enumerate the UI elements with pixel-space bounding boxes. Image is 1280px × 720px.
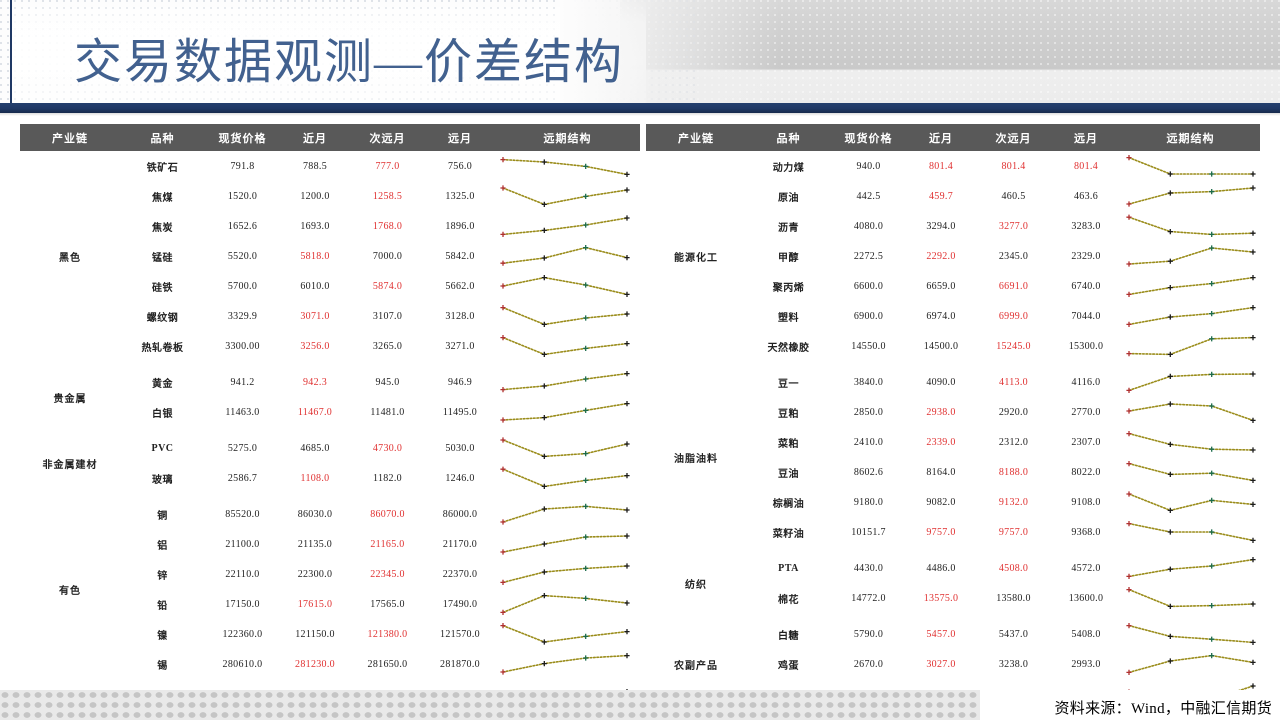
second-far-month-cell: 121380.0 [350,619,425,649]
second-far-month-cell: 7000.0 [350,241,425,271]
col-header-chain: 产业链 [20,124,120,151]
near-month-cell: 6659.0 [906,271,976,301]
near-month-cell: 14500.0 [906,331,976,361]
near-month-cell: 17615.0 [280,589,350,619]
far-month-cell: 9368.0 [1051,517,1121,547]
forward-structure-sparkline [495,529,640,559]
near-month-cell: 21135.0 [280,529,350,559]
spot-price-cell: 5275.0 [205,433,280,463]
forward-structure-sparkline [495,151,640,181]
col-header-far: 远月 [425,124,495,151]
far-month-cell: 5030.0 [425,433,495,463]
near-month-cell: 121150.0 [280,619,350,649]
spot-price-cell: 17150.0 [205,589,280,619]
left-accent-rule [10,0,12,104]
page-title: 交易数据观测—价差结构 [74,32,624,94]
chain-cell: 纺织 [646,553,746,613]
second-far-month-cell: 801.4 [976,151,1051,181]
near-month-cell: 4486.0 [906,553,976,583]
far-month-cell: 4116.0 [1051,367,1121,397]
far-month-cell: 3271.0 [425,331,495,361]
forward-structure-sparkline [495,181,640,211]
far-month-cell: 281870.0 [425,649,495,679]
chain-cell: 油脂油料 [646,367,746,547]
near-month-cell: 13575.0 [906,583,976,613]
far-month-cell: 21170.0 [425,529,495,559]
second-far-month-cell: 5874.0 [350,271,425,301]
second-far-month-cell: 4508.0 [976,553,1051,583]
variety-cell: PTA [746,553,831,583]
variety-cell: 菜粕 [746,427,831,457]
forward-structure-sparkline [1121,427,1260,457]
forward-structure-sparkline [495,589,640,619]
near-month-cell: 1200.0 [280,181,350,211]
variety-cell: PVC [120,433,205,463]
second-far-month-cell: 281650.0 [350,649,425,679]
far-month-cell: 86000.0 [425,499,495,529]
near-month-cell: 942.3 [280,367,350,397]
col-header-far: 远月 [1051,124,1121,151]
forward-structure-sparkline [1121,487,1260,517]
second-far-month-cell: 86070.0 [350,499,425,529]
spot-price-cell: 4080.0 [831,211,906,241]
table-row[interactable]: 能源化工动力煤940.0801.4801.4801.4 [646,151,1260,181]
near-month-cell: 5818.0 [280,241,350,271]
second-far-month-cell: 17565.0 [350,589,425,619]
table-row[interactable]: 纺织PTA4430.04486.04508.04572.0 [646,553,1260,583]
spot-price-cell: 2410.0 [831,427,906,457]
far-month-cell: 6740.0 [1051,271,1121,301]
forward-structure-sparkline [495,241,640,271]
variety-cell: 铜 [120,499,205,529]
forward-structure-sparkline [1121,241,1260,271]
chain-cell: 能源化工 [646,151,746,361]
table-row[interactable]: 黑色铁矿石791.8788.5777.0756.0 [20,151,640,181]
near-month-cell: 1693.0 [280,211,350,241]
variety-cell: 豆一 [746,367,831,397]
spot-price-cell: 6600.0 [831,271,906,301]
spot-price-cell: 11463.0 [205,397,280,427]
col-header-structure: 远期结构 [1121,124,1260,151]
right-table-panel: 产业链 品种 现货价格 近月 次远月 远月 远期结构 能源化工动力煤940.08… [646,124,1260,709]
forward-structure-sparkline [495,301,640,331]
forward-structure-sparkline [495,433,640,463]
spot-price-cell: 14550.0 [831,331,906,361]
spot-price-cell: 5700.0 [205,271,280,301]
forward-structure-sparkline [1121,367,1260,397]
variety-cell: 动力煤 [746,151,831,181]
variety-cell: 菜籽油 [746,517,831,547]
variety-cell: 铁矿石 [120,151,205,181]
table-row[interactable]: 有色铜85520.086030.086070.086000.0 [20,499,640,529]
variety-cell: 螺纹钢 [120,301,205,331]
forward-structure-sparkline [495,271,640,301]
chain-cell: 非金属建材 [20,433,120,493]
second-far-month-cell: 1182.0 [350,463,425,493]
left-table-panel: 产业链 品种 现货价格 近月 次远月 远月 远期结构 黑色铁矿石791.8788… [20,124,640,720]
spot-price-cell: 2850.0 [831,397,906,427]
far-month-cell: 13600.0 [1051,583,1121,613]
near-month-cell: 5457.0 [906,619,976,649]
spot-price-cell: 21100.0 [205,529,280,559]
near-month-cell: 801.4 [906,151,976,181]
variety-cell: 鸡蛋 [746,649,831,679]
far-month-cell: 2770.0 [1051,397,1121,427]
variety-cell: 镍 [120,619,205,649]
second-far-month-cell: 21165.0 [350,529,425,559]
near-month-cell: 3071.0 [280,301,350,331]
near-month-cell: 2938.0 [906,397,976,427]
second-far-month-cell: 3238.0 [976,649,1051,679]
variety-cell: 白银 [120,397,205,427]
spot-price-cell: 3329.9 [205,301,280,331]
far-month-cell: 8022.0 [1051,457,1121,487]
forward-structure-sparkline [1121,649,1260,679]
second-far-month-cell: 3265.0 [350,331,425,361]
variety-cell: 棕榈油 [746,487,831,517]
second-far-month-cell: 4730.0 [350,433,425,463]
table-header-row: 产业链 品种 现货价格 近月 次远月 远月 远期结构 [646,124,1260,151]
forward-structure-sparkline [495,367,640,397]
forward-structure-sparkline [1121,397,1260,427]
slide-canvas: 交易数据观测—价差结构 产业链 品种 现货价格 近月 次远月 远月 远期结构 黑… [0,0,1280,720]
spot-price-cell: 1520.0 [205,181,280,211]
second-far-month-cell: 1258.5 [350,181,425,211]
near-month-cell: 2292.0 [906,241,976,271]
forward-structure-sparkline [1121,457,1260,487]
table-row[interactable]: 农副产品白糖5790.05457.05437.05408.0 [646,619,1260,649]
near-month-cell: 281230.0 [280,649,350,679]
second-far-month-cell: 777.0 [350,151,425,181]
near-month-cell: 22300.0 [280,559,350,589]
second-far-month-cell: 1768.0 [350,211,425,241]
table-row[interactable]: 油脂油料豆一3840.04090.04113.04116.0 [646,367,1260,397]
second-far-month-cell: 3107.0 [350,301,425,331]
variety-cell: 黄金 [120,367,205,397]
spot-price-cell: 2272.5 [831,241,906,271]
second-far-month-cell: 2920.0 [976,397,1051,427]
forward-structure-sparkline [1121,151,1260,181]
second-far-month-cell: 6691.0 [976,271,1051,301]
col-header-variety: 品种 [746,124,831,151]
spot-price-cell: 2586.7 [205,463,280,493]
far-month-cell: 1246.0 [425,463,495,493]
table-header-row: 产业链 品种 现货价格 近月 次远月 远月 远期结构 [20,124,640,151]
second-far-month-cell: 11481.0 [350,397,425,427]
forward-structure-sparkline [1121,301,1260,331]
second-far-month-cell: 4113.0 [976,367,1051,397]
variety-cell: 天然橡胶 [746,331,831,361]
second-far-month-cell: 9132.0 [976,487,1051,517]
far-month-cell: 9108.0 [1051,487,1121,517]
spot-price-cell: 122360.0 [205,619,280,649]
far-month-cell: 463.6 [1051,181,1121,211]
variety-cell: 热轧卷板 [120,331,205,361]
second-far-month-cell: 2345.0 [976,241,1051,271]
near-month-cell: 6010.0 [280,271,350,301]
col-header-variety: 品种 [120,124,205,151]
far-month-cell: 801.4 [1051,151,1121,181]
forward-structure-sparkline [1121,517,1260,547]
near-month-cell: 4685.0 [280,433,350,463]
col-header-spot: 现货价格 [831,124,906,151]
spot-price-cell: 941.2 [205,367,280,397]
far-month-cell: 5842.0 [425,241,495,271]
far-month-cell: 121570.0 [425,619,495,649]
far-month-cell: 15300.0 [1051,331,1121,361]
variety-cell: 硅铁 [120,271,205,301]
col-header-spot: 现货价格 [205,124,280,151]
forward-structure-sparkline [1121,211,1260,241]
far-month-cell: 2329.0 [1051,241,1121,271]
second-far-month-cell: 3277.0 [976,211,1051,241]
forward-structure-sparkline [495,463,640,493]
col-header-mid: 次远月 [350,124,425,151]
forward-structure-sparkline [1121,553,1260,583]
variety-cell: 聚丙烯 [746,271,831,301]
col-header-structure: 远期结构 [495,124,640,151]
variety-cell: 豆粕 [746,397,831,427]
near-month-cell: 2339.0 [906,427,976,457]
table-body-left: 黑色铁矿石791.8788.5777.0756.0焦煤1520.01200.01… [20,151,640,720]
variety-cell: 焦炭 [120,211,205,241]
far-month-cell: 756.0 [425,151,495,181]
second-far-month-cell: 6999.0 [976,301,1051,331]
chain-cell: 有色 [20,499,120,679]
second-far-month-cell: 2312.0 [976,427,1051,457]
spot-price-cell: 940.0 [831,151,906,181]
far-month-cell: 5662.0 [425,271,495,301]
near-month-cell: 4090.0 [906,367,976,397]
spot-price-cell: 22110.0 [205,559,280,589]
variety-cell: 锰硅 [120,241,205,271]
spot-price-cell: 6900.0 [831,301,906,331]
near-month-cell: 6974.0 [906,301,976,331]
forward-structure-sparkline [1121,271,1260,301]
forward-structure-sparkline [495,499,640,529]
far-month-cell: 1325.0 [425,181,495,211]
table-row[interactable]: 非金属建材PVC5275.04685.04730.05030.0 [20,433,640,463]
near-month-cell: 9757.0 [906,517,976,547]
spot-price-cell: 14772.0 [831,583,906,613]
far-month-cell: 17490.0 [425,589,495,619]
near-month-cell: 11467.0 [280,397,350,427]
forward-structure-sparkline [495,397,640,427]
table-body-right: 能源化工动力煤940.0801.4801.4801.4原油442.5459.74… [646,151,1260,709]
second-far-month-cell: 22345.0 [350,559,425,589]
variety-cell: 棉花 [746,583,831,613]
near-month-cell: 3294.0 [906,211,976,241]
variety-cell: 豆油 [746,457,831,487]
variety-cell: 原油 [746,181,831,211]
far-month-cell: 7044.0 [1051,301,1121,331]
chain-cell: 贵金属 [20,367,120,427]
navy-divider-shadow [0,113,1280,116]
far-month-cell: 22370.0 [425,559,495,589]
spot-price-cell: 4430.0 [831,553,906,583]
spot-price-cell: 1652.6 [205,211,280,241]
second-far-month-cell: 5437.0 [976,619,1051,649]
spot-price-cell: 280610.0 [205,649,280,679]
spot-price-cell: 791.8 [205,151,280,181]
near-month-cell: 9082.0 [906,487,976,517]
forward-structure-sparkline [1121,331,1260,361]
navy-divider-bar [0,103,1280,113]
near-month-cell: 8164.0 [906,457,976,487]
near-month-cell: 459.7 [906,181,976,211]
near-month-cell: 788.5 [280,151,350,181]
variety-cell: 铝 [120,529,205,559]
spot-price-cell: 85520.0 [205,499,280,529]
col-header-near: 近月 [280,124,350,151]
variety-cell: 沥青 [746,211,831,241]
near-month-cell: 1108.0 [280,463,350,493]
far-month-cell: 946.9 [425,367,495,397]
second-far-month-cell: 8188.0 [976,457,1051,487]
far-month-cell: 2993.0 [1051,649,1121,679]
source-note: 资料来源：Wind，中融汇信期货 [1054,697,1272,718]
far-month-cell: 3128.0 [425,301,495,331]
forward-structure-sparkline [1121,181,1260,211]
forward-structure-table-left: 产业链 品种 现货价格 近月 次远月 远月 远期结构 黑色铁矿石791.8788… [20,124,640,720]
spot-price-cell: 8602.6 [831,457,906,487]
col-header-mid: 次远月 [976,124,1051,151]
second-far-month-cell: 9757.0 [976,517,1051,547]
forward-structure-sparkline [495,211,640,241]
spot-price-cell: 5790.0 [831,619,906,649]
near-month-cell: 3027.0 [906,649,976,679]
far-month-cell: 5408.0 [1051,619,1121,649]
col-header-near: 近月 [906,124,976,151]
spot-price-cell: 2670.0 [831,649,906,679]
forward-structure-sparkline [495,649,640,679]
far-month-cell: 1896.0 [425,211,495,241]
variety-cell: 塑料 [746,301,831,331]
spot-price-cell: 3840.0 [831,367,906,397]
variety-cell: 锌 [120,559,205,589]
forward-structure-sparkline [495,559,640,589]
far-month-cell: 4572.0 [1051,553,1121,583]
forward-structure-sparkline [1121,583,1260,613]
second-far-month-cell: 15245.0 [976,331,1051,361]
second-far-month-cell: 13580.0 [976,583,1051,613]
table-row[interactable]: 贵金属黄金941.2942.3945.0946.9 [20,367,640,397]
near-month-cell: 86030.0 [280,499,350,529]
chain-cell: 黑色 [20,151,120,361]
spot-price-cell: 9180.0 [831,487,906,517]
spot-price-cell: 10151.7 [831,517,906,547]
near-month-cell: 3256.0 [280,331,350,361]
forward-structure-sparkline [1121,619,1260,649]
variety-cell: 焦煤 [120,181,205,211]
spot-price-cell: 442.5 [831,181,906,211]
variety-cell: 白糖 [746,619,831,649]
forward-structure-sparkline [495,331,640,361]
spot-price-cell: 3300.00 [205,331,280,361]
variety-cell: 玻璃 [120,463,205,493]
variety-cell: 锡 [120,649,205,679]
spot-price-cell: 5520.0 [205,241,280,271]
far-month-cell: 2307.0 [1051,427,1121,457]
forward-structure-sparkline [495,619,640,649]
far-month-cell: 11495.0 [425,397,495,427]
forward-structure-table-right: 产业链 品种 现货价格 近月 次远月 远月 远期结构 能源化工动力煤940.08… [646,124,1260,709]
second-far-month-cell: 460.5 [976,181,1051,211]
variety-cell: 甲醇 [746,241,831,271]
col-header-chain: 产业链 [646,124,746,151]
variety-cell: 铅 [120,589,205,619]
second-far-month-cell: 945.0 [350,367,425,397]
far-month-cell: 3283.0 [1051,211,1121,241]
